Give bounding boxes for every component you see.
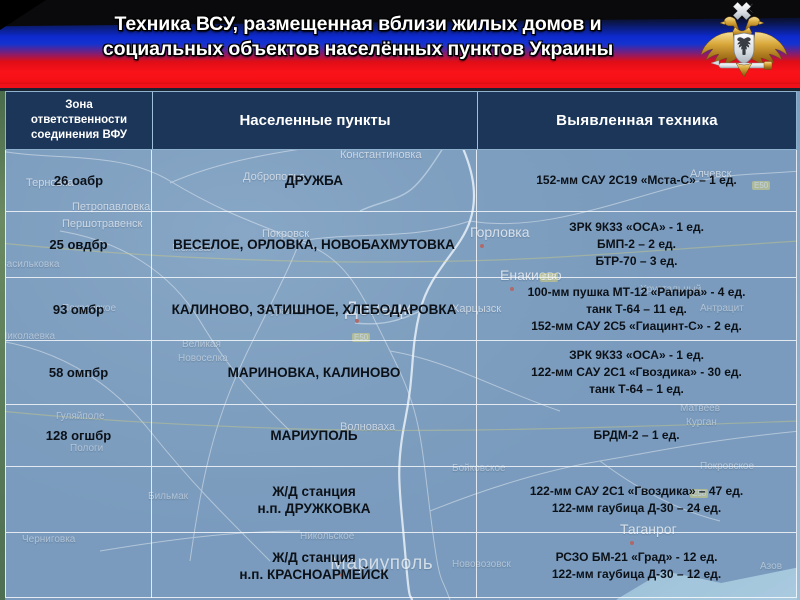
page-title-line-1: Техника ВСУ, размещенная вблизи жилых до… bbox=[28, 12, 688, 37]
cell-settlements: Ж/Д станциян.п. ДРУЖКОВКА bbox=[152, 467, 477, 532]
zone-label: 58 омпбр bbox=[49, 365, 108, 380]
cell-zone: 26 оабр bbox=[6, 150, 152, 211]
table-row: 128 огшбрМАРИУПОЛЬБРДМ-2 – 1 ед. bbox=[6, 405, 796, 467]
equipment-line: танк Т-64 – 1 ед. bbox=[589, 381, 684, 398]
equipment-line: БРДМ-2 – 1 ед. bbox=[593, 427, 679, 444]
settlement-line: ВЕСЕЛОЕ, ОРЛОВКА, НОВОБАХМУТОВКА bbox=[173, 236, 455, 253]
cell-equipment: ЗРК 9К33 «ОСА» - 1 ед.БМП-2 – 2 ед.БТР-7… bbox=[477, 212, 796, 277]
zone-label: 26 оабр bbox=[54, 173, 103, 188]
table-row: Ж/Д станциян.п. КРАСНОАРМЕЙСКРСЗО БМ-21 … bbox=[6, 533, 796, 598]
cell-zone bbox=[6, 467, 152, 532]
equipment-line: ЗРК 9К33 «ОСА» - 1 ед. bbox=[569, 219, 704, 236]
equipment-line: БТР-70 – 3 ед. bbox=[596, 253, 678, 270]
zone-label: 93 омбр bbox=[53, 302, 104, 317]
cell-zone bbox=[6, 533, 152, 598]
zone-label: 128 огшбр bbox=[46, 428, 111, 443]
title-banner: Техника ВСУ, размещенная вблизи жилых до… bbox=[0, 0, 800, 88]
table-body: 26 оабрДРУЖБА152-мм САУ 2С19 «Мста-С» – … bbox=[5, 150, 797, 598]
equipment-line: танк Т-64 – 11 ед. bbox=[586, 301, 687, 318]
cell-zone: 128 огшбр bbox=[6, 405, 152, 466]
cell-equipment: ЗРК 9К33 «ОСА» - 1 ед.122-мм САУ 2С1 «Гв… bbox=[477, 341, 796, 404]
cell-equipment: 100-мм пушка МТ-12 «Рапира» - 4 ед.танк … bbox=[477, 278, 796, 340]
page-title: Техника ВСУ, размещенная вблизи жилых до… bbox=[28, 12, 688, 62]
table-header-row: Зона ответственности соединения ВФУ Насе… bbox=[5, 91, 797, 150]
cell-settlements: ВЕСЕЛОЕ, ОРЛОВКА, НОВОБАХМУТОВКА bbox=[152, 212, 477, 277]
column-header-equipment: Выявленная техника bbox=[478, 92, 796, 149]
cell-zone: 58 омпбр bbox=[6, 341, 152, 404]
cell-zone: 25 овдбр bbox=[6, 212, 152, 277]
settlement-line: МАРИНОВКА, КАЛИНОВО bbox=[228, 364, 401, 381]
cell-settlements: Ж/Д станциян.п. КРАСНОАРМЕЙСК bbox=[152, 533, 477, 598]
settlement-line: Ж/Д станция bbox=[272, 483, 356, 500]
cell-equipment: БРДМ-2 – 1 ед. bbox=[477, 405, 796, 466]
column-header-zone-line3: соединения ВФУ bbox=[31, 128, 127, 143]
table-row: 58 омпбрМАРИНОВКА, КАЛИНОВОЗРК 9К33 «ОСА… bbox=[6, 341, 796, 405]
slide-root: Техника ВСУ, размещенная вблизи жилых до… bbox=[0, 0, 800, 600]
equipment-line: 152-мм САУ 2С5 «Гиацинт-С» - 2 ед. bbox=[531, 318, 742, 335]
table-row: 25 овдбрВЕСЕЛОЕ, ОРЛОВКА, НОВОБАХМУТОВКА… bbox=[6, 212, 796, 278]
cell-settlements: КАЛИНОВО, ЗАТИШНОЕ, ХЛЕБОДАРОВКА bbox=[152, 278, 477, 340]
cell-equipment: 122-мм САУ 2С1 «Гвоздика» – 47 ед.122-мм… bbox=[477, 467, 796, 532]
settlement-line: КАЛИНОВО, ЗАТИШНОЕ, ХЛЕБОДАРОВКА bbox=[172, 301, 457, 318]
equipment-line: ЗРК 9К33 «ОСА» - 1 ед. bbox=[569, 347, 704, 364]
table-row: 26 оабрДРУЖБА152-мм САУ 2С19 «Мста-С» – … bbox=[6, 150, 796, 212]
cell-equipment: 152-мм САУ 2С19 «Мста-С» – 1 ед. bbox=[477, 150, 796, 211]
column-header-zone: Зона ответственности соединения ВФУ bbox=[6, 92, 153, 149]
settlement-line: Ж/Д станция bbox=[272, 549, 356, 566]
rosgvardiya-emblem-icon bbox=[696, 1, 792, 87]
equipment-line: РСЗО БМ-21 «Град» - 12 ед. bbox=[556, 549, 718, 566]
settlement-line: н.п. КРАСНОАРМЕЙСК bbox=[239, 566, 388, 583]
cell-settlements: ДРУЖБА bbox=[152, 150, 477, 211]
cell-equipment: РСЗО БМ-21 «Град» - 12 ед.122-мм гаубица… bbox=[477, 533, 796, 598]
page-title-line-2: социальных объектов населённых пунктов У… bbox=[28, 37, 688, 62]
table-row: Ж/Д станциян.п. ДРУЖКОВКА122-мм САУ 2С1 … bbox=[6, 467, 796, 533]
cell-settlements: МАРИНОВКА, КАЛИНОВО bbox=[152, 341, 477, 404]
cell-settlements: МАРИУПОЛЬ bbox=[152, 405, 477, 466]
zone-label: 25 овдбр bbox=[49, 237, 107, 252]
equipment-line: 122-мм САУ 2С1 «Гвоздика» – 47 ед. bbox=[530, 483, 743, 500]
settlement-line: н.п. ДРУЖКОВКА bbox=[257, 500, 370, 517]
equipment-line: 152-мм САУ 2С19 «Мста-С» – 1 ед. bbox=[536, 172, 737, 189]
table-row: 93 омбрКАЛИНОВО, ЗАТИШНОЕ, ХЛЕБОДАРОВКА1… bbox=[6, 278, 796, 341]
equipment-line: 100-мм пушка МТ-12 «Рапира» - 4 ед. bbox=[528, 284, 746, 301]
cell-zone: 93 омбр bbox=[6, 278, 152, 340]
column-header-zone-line2: ответственности bbox=[31, 113, 127, 128]
equipment-line: БМП-2 – 2 ед. bbox=[597, 236, 676, 253]
settlement-line: ДРУЖБА bbox=[285, 172, 343, 189]
equipment-line: 122-мм гаубица Д-30 – 12 ед. bbox=[552, 566, 721, 583]
settlement-line: МАРИУПОЛЬ bbox=[270, 427, 357, 444]
equipment-line: 122-мм САУ 2С1 «Гвоздика» - 30 ед. bbox=[531, 364, 742, 381]
equipment-line: 122-мм гаубица Д-30 – 24 ед. bbox=[552, 500, 721, 517]
column-header-settlements: Населенные пункты bbox=[153, 92, 478, 149]
column-header-zone-line1: Зона bbox=[31, 98, 127, 113]
